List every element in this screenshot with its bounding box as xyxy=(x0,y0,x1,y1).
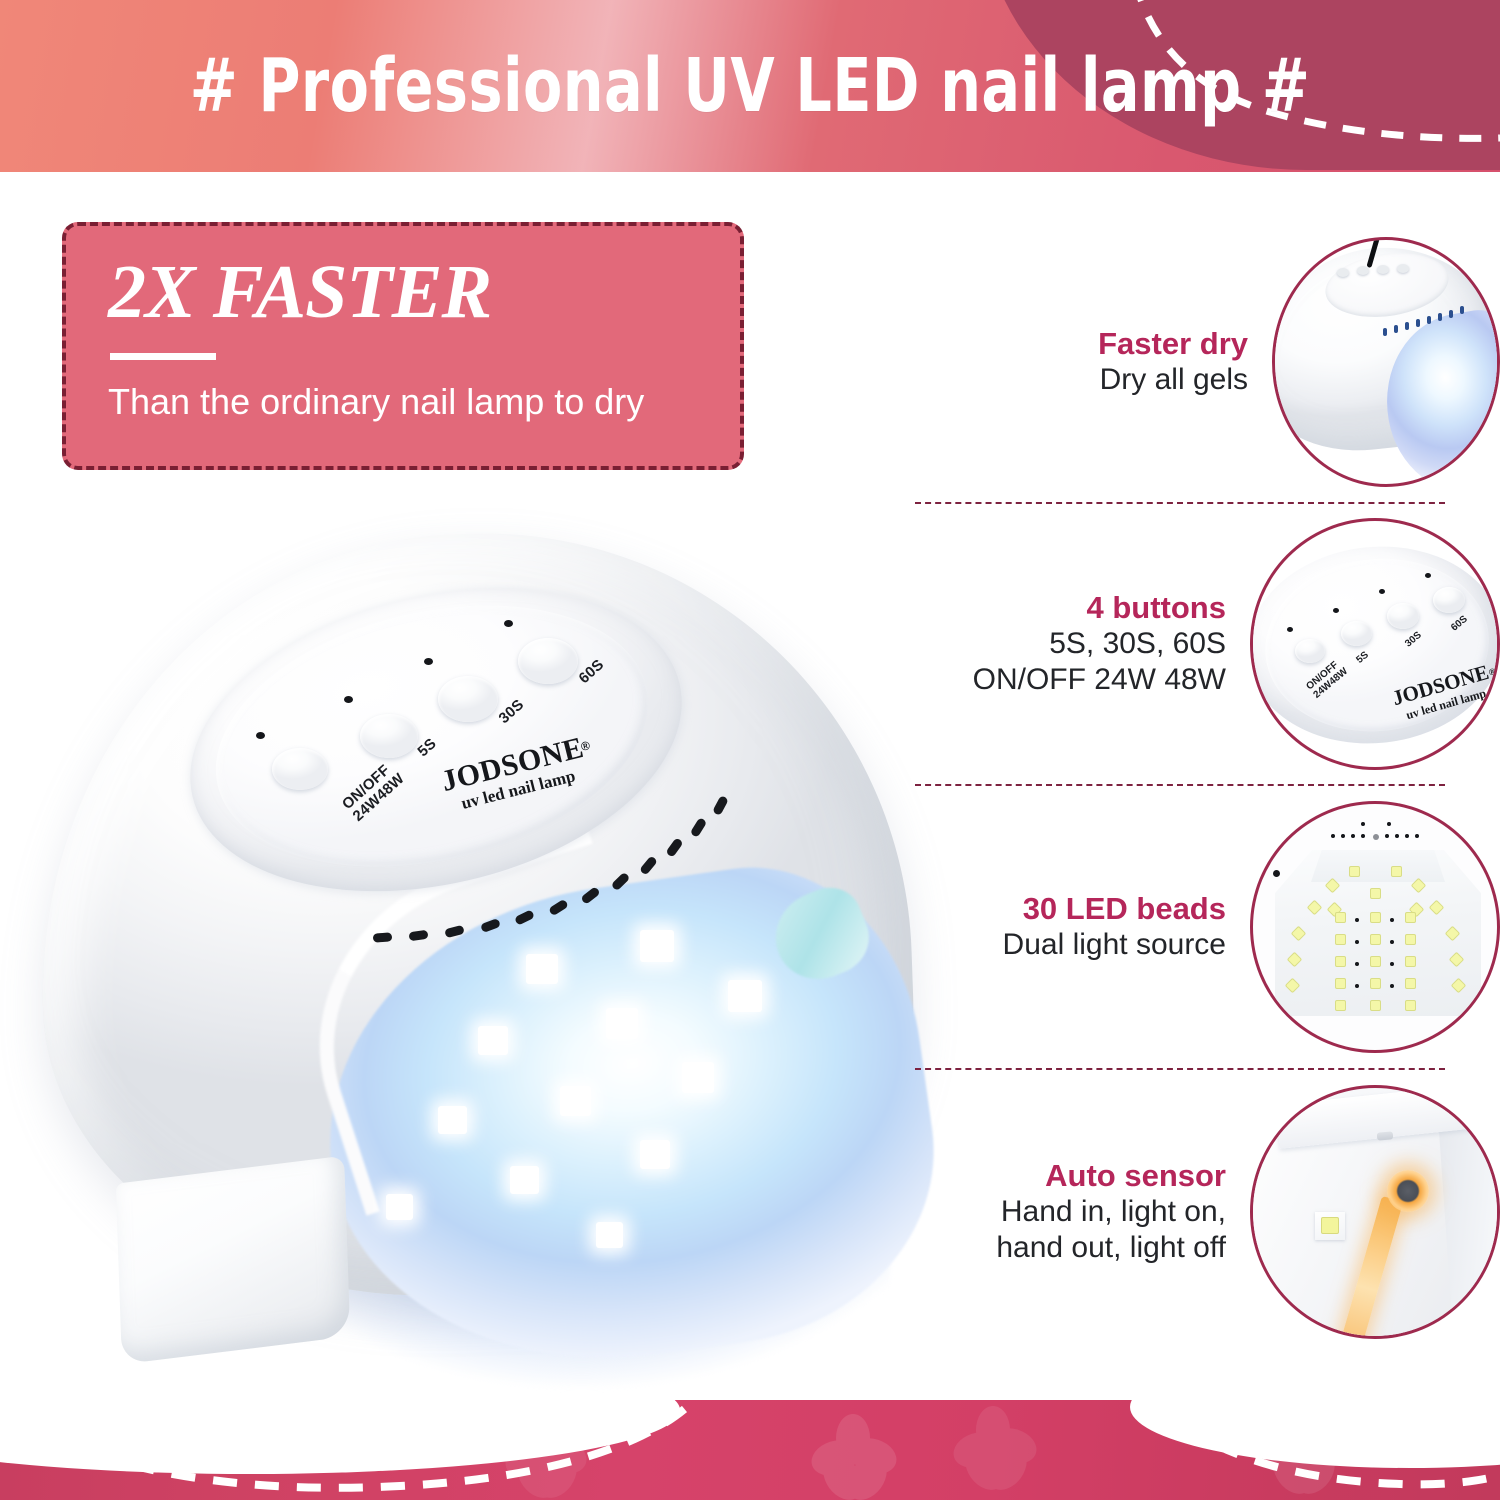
feature-separator xyxy=(915,1068,1445,1070)
button-5s-thumb xyxy=(1341,621,1372,646)
led-bead xyxy=(560,1086,591,1116)
feature-image-auto-sensor xyxy=(1250,1085,1500,1339)
feature-description: Dry all gels xyxy=(905,362,1248,398)
feature-item-auto-sensor: Auto sensor Hand in, light on, hand out,… xyxy=(905,1084,1500,1340)
button-indicator-dot xyxy=(256,732,265,739)
screw-icon xyxy=(1377,1131,1394,1140)
feature-item-led-beads: 30 LED beads Dual light source xyxy=(905,798,1500,1056)
vent-slot xyxy=(1394,325,1398,333)
uv-lamp-dot xyxy=(1355,940,1359,944)
led-bead xyxy=(640,930,674,962)
led-bead xyxy=(1370,978,1381,989)
uv-lamp-dot xyxy=(1355,962,1359,966)
led-bead xyxy=(640,1140,670,1169)
feature-text-block: 4 buttons 5S, 30S, 60S ON/OFF 24W 48W xyxy=(905,590,1250,699)
header-banner: # Professional UV LED nail lamp # xyxy=(0,0,1500,172)
footer-banner xyxy=(0,1400,1500,1500)
led-bead xyxy=(1349,866,1360,877)
uv-lamp-dot xyxy=(1355,984,1359,988)
feature-text-block: Faster dry Dry all gels xyxy=(905,326,1272,399)
button-thumb xyxy=(1337,268,1349,277)
vent-slot xyxy=(1438,313,1442,321)
uv-lamp-dot xyxy=(1390,962,1394,966)
vent-slot xyxy=(1460,306,1464,314)
led-bead xyxy=(478,1026,508,1055)
vent-dot xyxy=(1341,834,1345,838)
button-30s-thumb xyxy=(1387,603,1419,629)
led-bead xyxy=(1335,978,1346,989)
chamber-top-panel xyxy=(1311,850,1445,882)
button-indicator-dot xyxy=(504,620,513,627)
led-bead xyxy=(1370,1000,1381,1011)
feature-separator xyxy=(915,784,1445,786)
floral-ornament-icon xyxy=(960,1406,1024,1470)
lamp-base-foot xyxy=(116,1156,351,1365)
button-60s-thumb xyxy=(1433,587,1465,613)
feature-title: Faster dry xyxy=(905,326,1248,363)
promo-divider xyxy=(110,353,216,360)
led-bead xyxy=(1405,956,1416,967)
feature-image-control-panel: ON/OFF 24W48W 5S 30S 60S JODSONE ® uv le… xyxy=(1250,518,1500,770)
promo-subtitle: Than the ordinary nail lamp to dry xyxy=(108,382,700,422)
led-chip xyxy=(1315,1212,1345,1240)
feature-description-line2: ON/OFF 24W 48W xyxy=(905,662,1226,698)
button-indicator-dot xyxy=(1333,608,1339,613)
button-5s[interactable] xyxy=(360,714,418,758)
vent-dot xyxy=(1331,834,1335,838)
led-bead xyxy=(1335,956,1346,967)
vent-dot xyxy=(1385,834,1389,838)
vent-dot xyxy=(1361,834,1365,838)
feature-description-line2: hand out, light off xyxy=(905,1230,1226,1266)
vent-slot xyxy=(1405,322,1409,330)
uv-lamp-dot xyxy=(1390,918,1394,922)
led-bead xyxy=(526,954,558,984)
button-thumb xyxy=(1357,266,1369,275)
feature-text-block: Auto sensor Hand in, light on, hand out,… xyxy=(905,1158,1250,1267)
button-30s[interactable] xyxy=(438,676,498,722)
feature-item-faster-dry: Faster dry Dry all gels xyxy=(905,236,1500,488)
feature-description: Dual light source xyxy=(905,927,1226,963)
feature-separator xyxy=(915,502,1445,504)
button-thumb xyxy=(1377,265,1389,274)
feature-title: Auto sensor xyxy=(905,1158,1226,1195)
led-bead xyxy=(1405,912,1416,923)
button-indicator-dot xyxy=(1287,627,1293,632)
led-bead xyxy=(1370,934,1381,945)
feature-title: 30 LED beads xyxy=(905,891,1226,928)
button-indicator-dot xyxy=(424,658,433,665)
feature-description-line1: 5S, 30S, 60S xyxy=(905,626,1226,662)
feature-description-line1: Hand in, light on, xyxy=(905,1194,1226,1230)
product-photo: ON/OFF 24W48W 5S 30S 60S JODSONE ® uv le… xyxy=(0,500,910,1400)
vent-dot xyxy=(1395,834,1399,838)
led-bead xyxy=(1335,934,1346,945)
feature-item-4-buttons: 4 buttons 5S, 30S, 60S ON/OFF 24W 48W ON… xyxy=(905,516,1500,772)
led-bead xyxy=(1391,866,1402,877)
button-indicator-dot xyxy=(1425,573,1431,578)
feature-text-block: 30 LED beads Dual light source xyxy=(905,891,1250,964)
uv-lamp-dot xyxy=(1390,984,1394,988)
vent-slot xyxy=(1416,319,1420,327)
feature-list: Faster dry Dry all gels 4 buttons 5S xyxy=(905,236,1500,1386)
nail-lamp-device: ON/OFF 24W48W 5S 30S 60S JODSONE ® uv le… xyxy=(40,534,910,1354)
page-title: # Professional UV LED nail lamp # xyxy=(105,0,1395,172)
led-bead xyxy=(1405,934,1416,945)
led-bead xyxy=(728,980,762,1012)
vent-slot xyxy=(1427,316,1431,324)
button-60s[interactable] xyxy=(518,638,578,684)
button-indicator-dot xyxy=(1379,589,1385,594)
feature-image-led-interior xyxy=(1250,801,1500,1053)
feature-title: 4 buttons xyxy=(905,590,1226,627)
button-onoff[interactable] xyxy=(272,748,328,790)
led-bead xyxy=(1370,956,1381,967)
vent-slot xyxy=(1383,328,1387,336)
led-bead xyxy=(386,1194,413,1220)
floral-ornament-icon xyxy=(818,1414,888,1484)
vent-dot xyxy=(1415,834,1419,838)
led-bead xyxy=(438,1106,467,1134)
hinge-dot xyxy=(1273,870,1280,877)
led-bead xyxy=(1370,912,1381,923)
led-bead xyxy=(596,1222,623,1248)
promo-headline: 2X FASTER xyxy=(108,256,700,329)
vent-dot xyxy=(1387,822,1391,826)
promo-callout-box: 2X FASTER Than the ordinary nail lamp to… xyxy=(62,222,744,470)
led-bead xyxy=(1405,1000,1416,1011)
uv-lamp-dot xyxy=(1355,918,1359,922)
vent-slot xyxy=(1449,310,1453,318)
uv-lamp-dot xyxy=(1390,940,1394,944)
led-bead xyxy=(1370,888,1381,899)
led-bead xyxy=(1335,1000,1346,1011)
led-bead xyxy=(1335,912,1346,923)
sensor-eye-icon xyxy=(1387,1170,1429,1212)
vent-dot xyxy=(1351,834,1355,838)
feature-image-faster-dry xyxy=(1272,237,1500,487)
floral-ornament-icon xyxy=(512,1418,572,1478)
sensor-dot xyxy=(1373,834,1379,840)
floral-ornament-icon xyxy=(1268,1410,1334,1476)
led-bead xyxy=(682,1062,714,1093)
vent-dot xyxy=(1361,822,1365,826)
vent-dot xyxy=(1405,834,1409,838)
led-bead xyxy=(1405,978,1416,989)
button-thumb xyxy=(1397,264,1409,273)
led-bead xyxy=(606,1008,638,1039)
led-bead xyxy=(510,1166,539,1194)
button-onoff-thumb xyxy=(1295,639,1325,663)
vent-slot xyxy=(373,932,393,942)
button-indicator-dot xyxy=(344,696,353,703)
